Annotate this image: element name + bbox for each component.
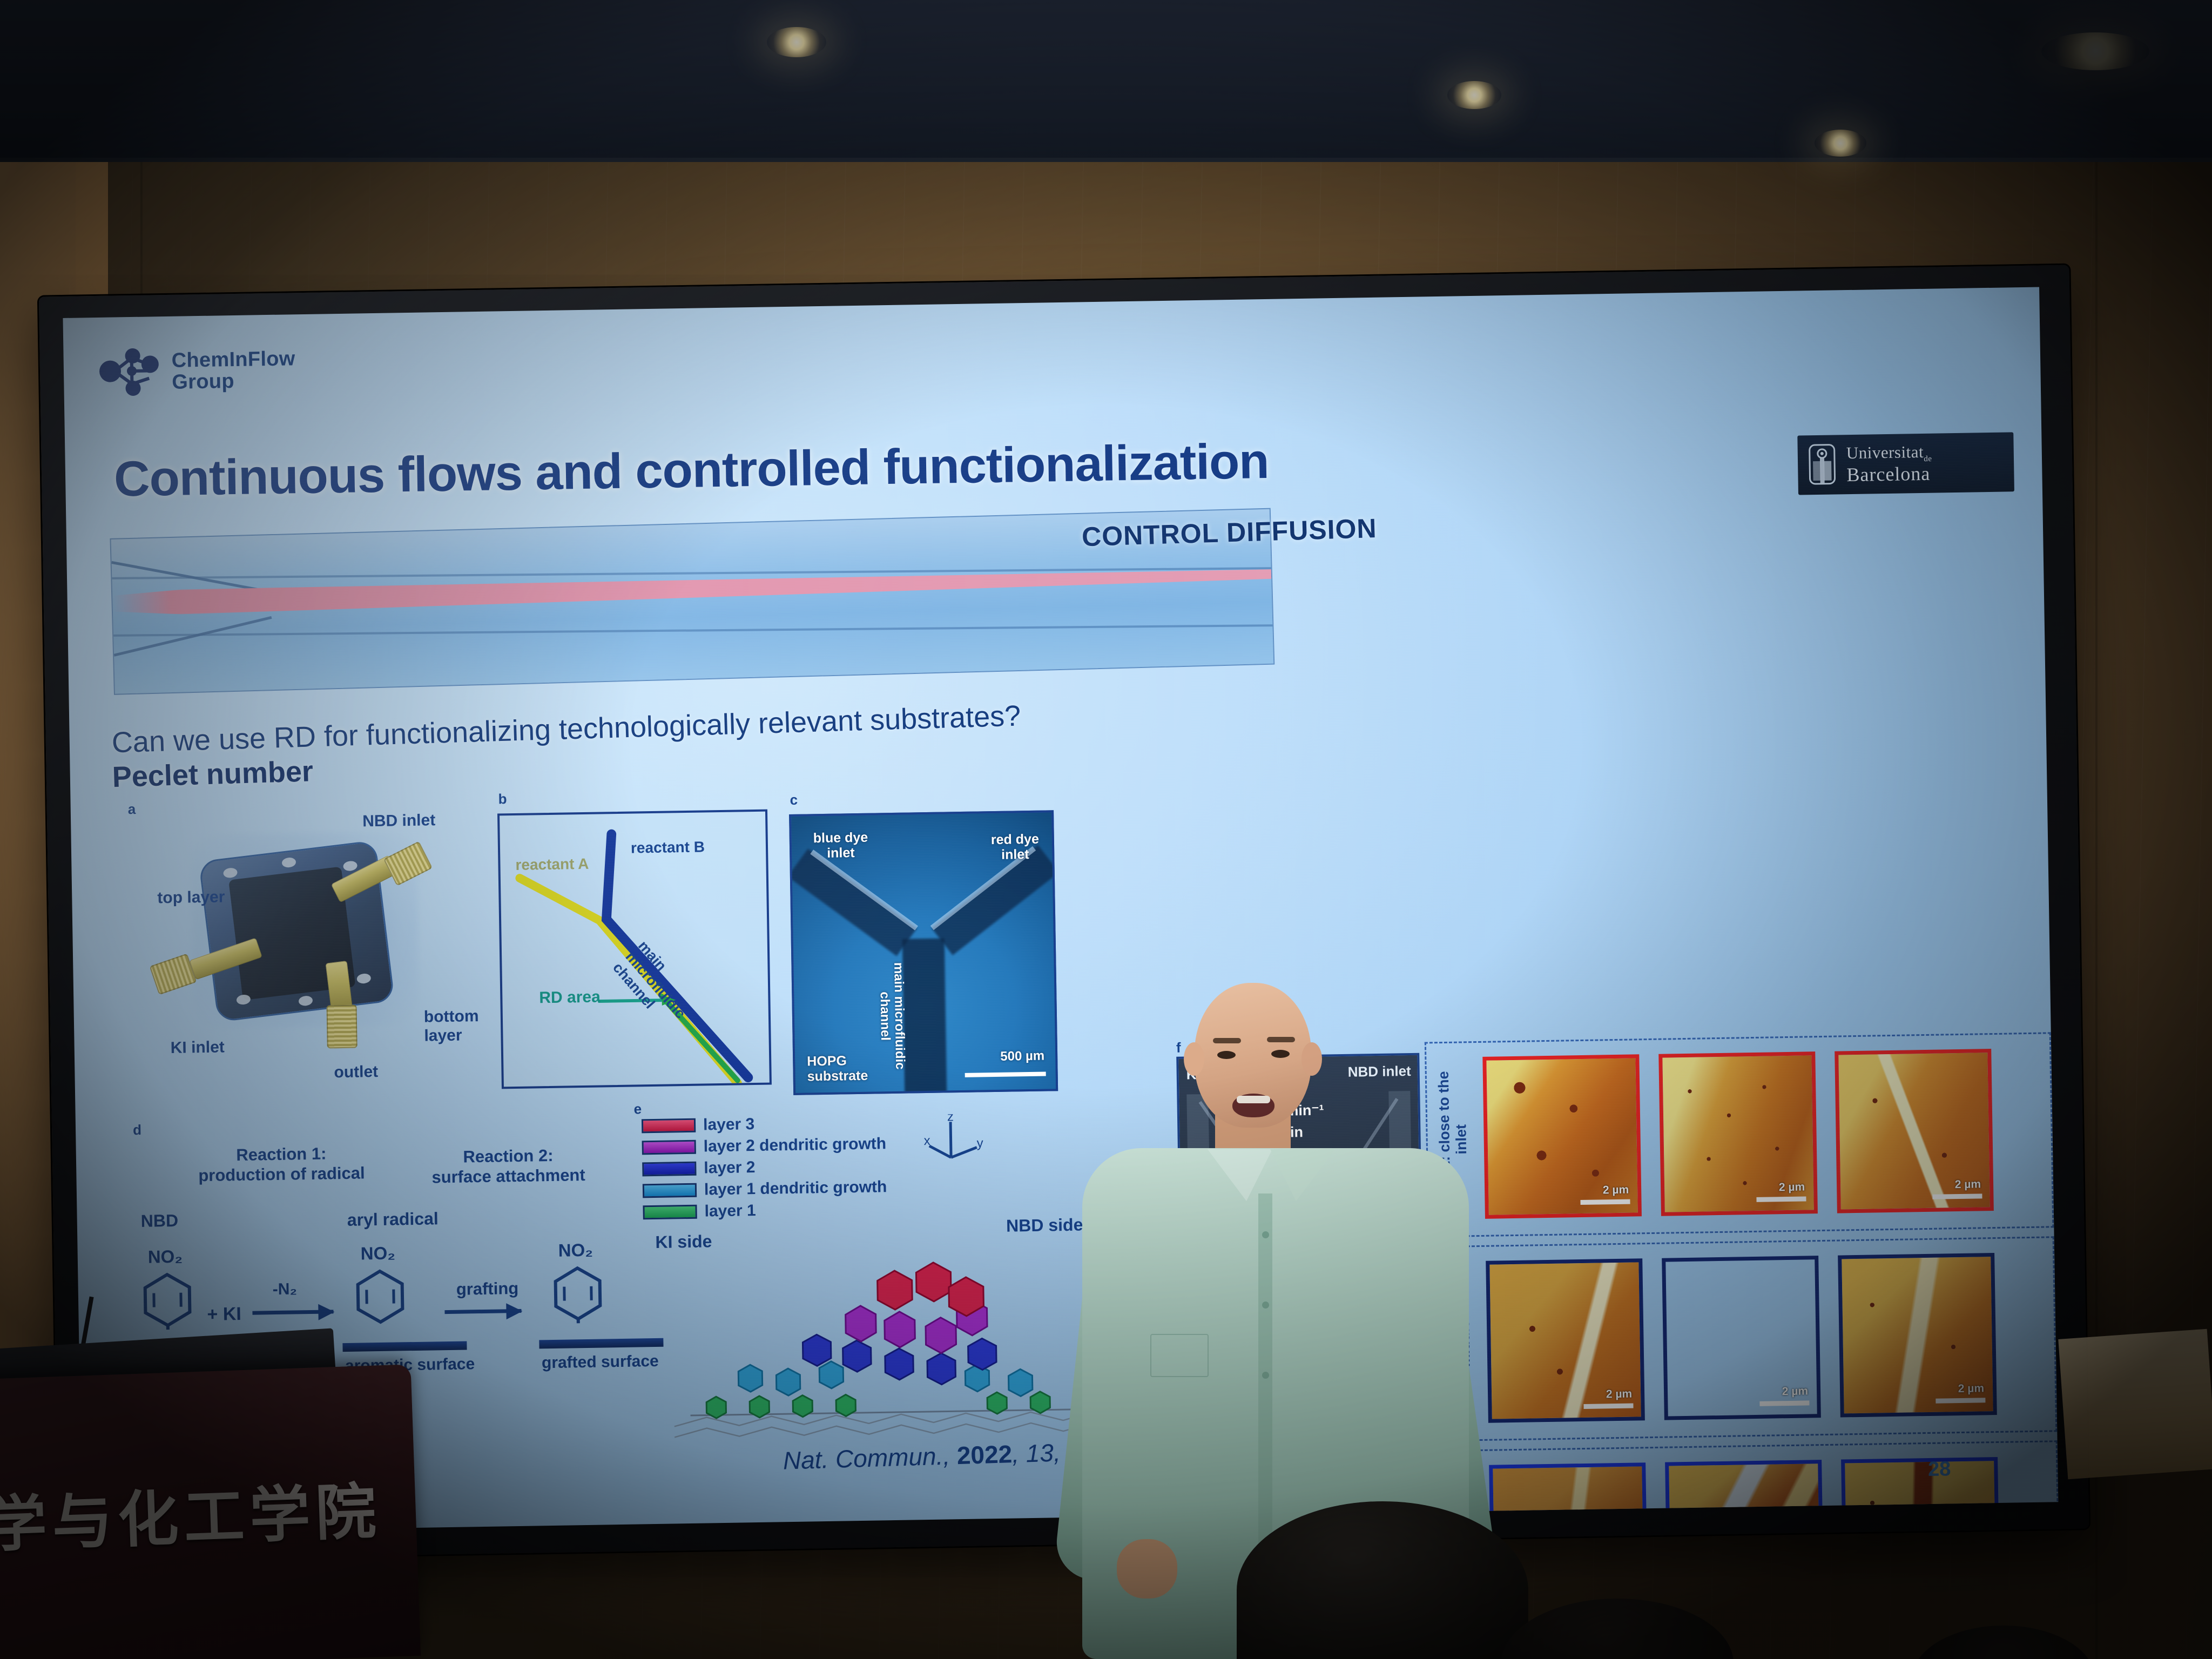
ceiling-downlight bbox=[767, 27, 826, 57]
slide-canvas: ChemInFlow Group Continuous flows and co… bbox=[63, 287, 2058, 1533]
podium-chinese-text: 学与化工学院 bbox=[0, 1461, 409, 1563]
presenter-shirt-pocket bbox=[1150, 1334, 1209, 1377]
conference-room: ChemInFlow Group Continuous flows and co… bbox=[0, 0, 2212, 1659]
shirt-button bbox=[1262, 1372, 1269, 1379]
presenter-eyebrow-right bbox=[1267, 1037, 1295, 1042]
side-table bbox=[2058, 1329, 2212, 1480]
ceiling-downlight bbox=[2041, 32, 2149, 70]
ceiling-downlight bbox=[1447, 81, 1501, 109]
shirt-button bbox=[1262, 1301, 1269, 1309]
presenter-eye-left bbox=[1217, 1051, 1236, 1059]
presenter-mouth bbox=[1232, 1094, 1274, 1117]
presenter-eyebrow-left bbox=[1213, 1038, 1241, 1043]
presenter-eye-right bbox=[1271, 1050, 1290, 1058]
presenter-hand-left bbox=[1117, 1539, 1177, 1599]
slide-texture bbox=[63, 287, 2058, 1533]
presenter-ear-right bbox=[1301, 1042, 1322, 1076]
ceiling bbox=[0, 0, 2212, 162]
presenter-shirt-placket bbox=[1258, 1193, 1272, 1588]
ceiling-downlight bbox=[1815, 130, 1866, 157]
ceiling-edge bbox=[0, 158, 2212, 162]
shirt-button bbox=[1262, 1231, 1269, 1238]
presenter-ear-left bbox=[1184, 1042, 1204, 1076]
